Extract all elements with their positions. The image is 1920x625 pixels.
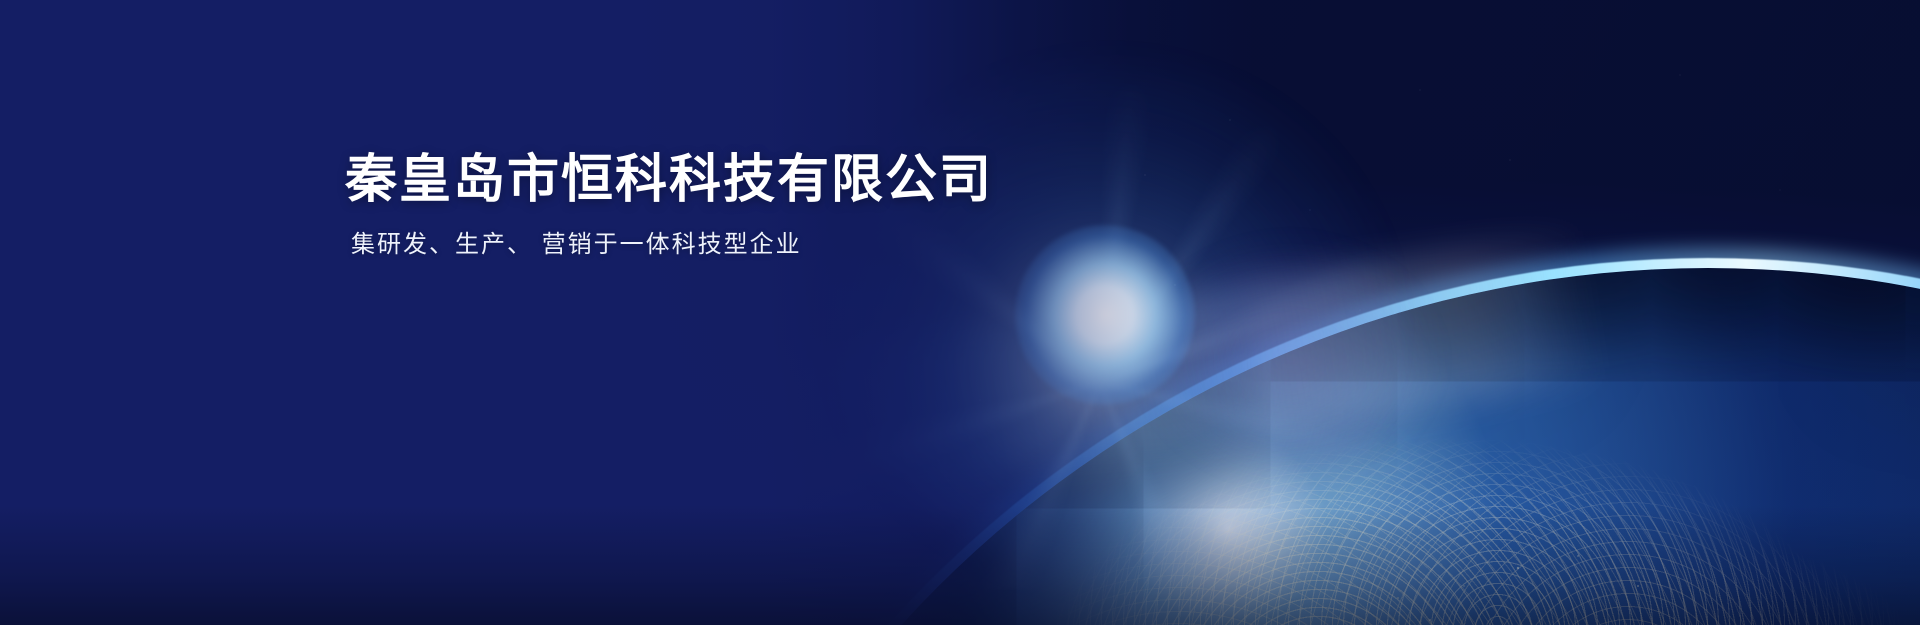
- bottom-vignette: [0, 505, 1920, 625]
- company-name-heading: 秦皇岛市恒科科技有限公司: [345, 150, 993, 210]
- hero-banner: 秦皇岛市恒科科技有限公司 集研发、生产、 营销于一体科技型企业: [0, 0, 1920, 625]
- banner-text-block: 秦皇岛市恒科科技有限公司 集研发、生产、 营销于一体科技型企业: [345, 150, 993, 262]
- company-tagline: 集研发、生产、 营销于一体科技型企业: [351, 228, 993, 262]
